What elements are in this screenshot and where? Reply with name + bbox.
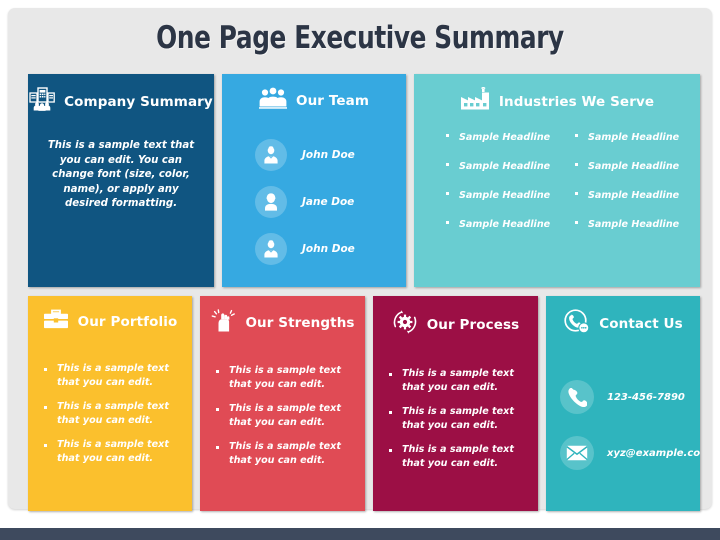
group-of-people-icon <box>259 87 287 114</box>
portfolio-item-text: This is a sample text that you can edit. <box>57 438 180 465</box>
strengths-item-text: This is a sample text that you can edit. <box>229 402 353 429</box>
panel-our-portfolio[interactable]: Our Portfolio This is a sample text that… <box>28 296 192 511</box>
bullet-icon <box>44 368 47 371</box>
strengths-list: This is a sample text that you can edit.… <box>212 364 353 467</box>
company-summary-title: Company Summary <box>64 94 213 110</box>
panel-our-team[interactable]: Our Team John Doe <box>222 74 406 287</box>
panel-our-process[interactable]: Our Process This is a sample text that y… <box>373 296 538 511</box>
list-item[interactable]: This is a sample text that you can edit. <box>385 443 526 470</box>
list-item[interactable]: Sample Headline <box>557 132 686 143</box>
industry-label: Sample Headline <box>459 219 550 230</box>
male-avatar-icon <box>255 139 287 171</box>
briefcase-icon <box>43 309 69 335</box>
bullet-icon <box>216 370 219 373</box>
industries-list: Sample Headline Sample Headline Sample H… <box>428 132 686 230</box>
bullet-icon <box>575 163 578 166</box>
office-building-people-icon <box>29 87 55 116</box>
panel-our-strengths[interactable]: Our Strengths This is a sample text that… <box>200 296 365 511</box>
process-item-text: This is a sample text that you can edit. <box>402 367 526 394</box>
industry-label: Sample Headline <box>588 132 679 143</box>
process-list: This is a sample text that you can edit.… <box>385 367 526 470</box>
bullet-icon <box>446 134 449 137</box>
our-team-title: Our Team <box>296 93 369 109</box>
female-avatar-icon <box>255 186 287 218</box>
list-item[interactable]: This is a sample text that you can edit. <box>385 367 526 394</box>
list-item[interactable]: Sample Headline <box>428 161 557 172</box>
list-item[interactable]: Sample Headline <box>428 190 557 201</box>
list-item[interactable]: John Doe <box>222 131 406 178</box>
raised-fist-icon <box>210 309 236 337</box>
bullet-icon <box>575 221 578 224</box>
bullet-icon <box>389 373 392 376</box>
envelope-icon <box>560 436 594 470</box>
strengths-item-text: This is a sample text that you can edit. <box>229 364 353 391</box>
list-item[interactable]: Sample Headline <box>428 132 557 143</box>
bullet-icon <box>389 449 392 452</box>
list-item[interactable]: This is a sample text that you can edit. <box>40 362 180 389</box>
process-item-text: This is a sample text that you can edit. <box>402 405 526 432</box>
list-item[interactable]: John Doe <box>222 225 406 272</box>
list-item[interactable]: Jane Doe <box>222 178 406 225</box>
list-item[interactable]: This is a sample text that you can edit. <box>40 438 180 465</box>
male-avatar-icon <box>255 233 287 265</box>
contact-details-list: 123-456-7890 xyz@example.com <box>546 369 700 481</box>
bullet-icon <box>575 134 578 137</box>
list-item[interactable]: This is a sample text that you can edit. <box>385 405 526 432</box>
portfolio-header: Our Portfolio <box>28 296 192 335</box>
company-summary-header: Company Summary <box>28 74 214 116</box>
bullet-icon <box>44 406 47 409</box>
contact-title: Contact Us <box>599 316 683 332</box>
contact-header: Contact Us <box>546 296 700 339</box>
list-item[interactable]: This is a sample text that you can edit. <box>40 400 180 427</box>
bullet-icon <box>44 444 47 447</box>
portfolio-title: Our Portfolio <box>78 314 178 330</box>
list-item[interactable]: Sample Headline <box>557 219 686 230</box>
industry-label: Sample Headline <box>588 190 679 201</box>
panel-contact-us[interactable]: Contact Us 123-456-7890 <box>546 296 700 511</box>
panel-company-summary[interactable]: Company Summary This is a sample text th… <box>28 74 214 287</box>
phone-icon <box>560 380 594 414</box>
process-item-text: This is a sample text that you can edit. <box>402 443 526 470</box>
contact-email-row[interactable]: xyz@example.com <box>546 425 700 481</box>
industry-label: Sample Headline <box>459 161 550 172</box>
page-title: One Page Executive Summary <box>78 20 641 56</box>
strengths-item-text: This is a sample text that you can edit. <box>229 440 353 467</box>
contact-phone-value: 123-456-7890 <box>607 392 685 403</box>
bullet-icon <box>446 221 449 224</box>
team-member-name: John Doe <box>302 149 355 161</box>
our-team-header: Our Team <box>222 74 406 114</box>
portfolio-item-text: This is a sample text that you can edit. <box>57 400 180 427</box>
bullet-icon <box>216 408 219 411</box>
slide-canvas: One Page Executive Summary <box>8 8 712 509</box>
strengths-title: Our Strengths <box>245 315 354 331</box>
bullet-icon <box>389 411 392 414</box>
bullet-icon <box>446 163 449 166</box>
team-member-name: Jane Doe <box>302 196 354 208</box>
team-member-list: John Doe Jane Doe <box>222 131 406 272</box>
contact-phone-row[interactable]: 123-456-7890 <box>546 369 700 425</box>
list-item[interactable]: This is a sample text that you can edit. <box>212 402 353 429</box>
portfolio-item-text: This is a sample text that you can edit. <box>57 362 180 389</box>
company-summary-text: This is a sample text that you can edit.… <box>44 139 198 212</box>
industry-label: Sample Headline <box>588 161 679 172</box>
process-header: Our Process <box>373 296 538 340</box>
panel-industries-we-serve[interactable]: Industries We Serve Sample Headline Samp… <box>414 74 700 287</box>
footer-bar <box>0 528 720 540</box>
bullet-icon <box>446 192 449 195</box>
bullet-icon <box>575 192 578 195</box>
list-item[interactable]: Sample Headline <box>557 161 686 172</box>
list-item[interactable]: Sample Headline <box>428 219 557 230</box>
industry-label: Sample Headline <box>459 190 550 201</box>
process-title: Our Process <box>427 317 520 333</box>
industry-label: Sample Headline <box>459 132 550 143</box>
contact-email-value: xyz@example.com <box>607 448 700 459</box>
phone-support-icon <box>563 309 590 339</box>
strengths-header: Our Strengths <box>200 296 365 337</box>
industry-label: Sample Headline <box>588 219 679 230</box>
portfolio-list: This is a sample text that you can edit.… <box>40 362 180 465</box>
bullet-icon <box>216 446 219 449</box>
industries-title: Industries We Serve <box>499 94 654 110</box>
gear-cycle-icon <box>392 309 418 340</box>
list-item[interactable]: This is a sample text that you can edit. <box>212 364 353 391</box>
industries-header: Industries We Serve <box>414 74 700 116</box>
list-item[interactable]: Sample Headline <box>557 190 686 201</box>
list-item[interactable]: This is a sample text that you can edit. <box>212 440 353 467</box>
team-member-name: John Doe <box>302 243 355 255</box>
factory-icon <box>460 87 490 116</box>
